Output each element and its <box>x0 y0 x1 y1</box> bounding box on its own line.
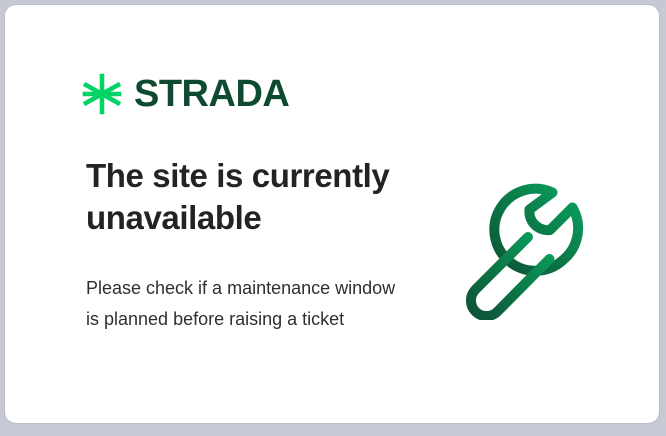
brand-wordmark: STRADA <box>134 75 289 113</box>
asterisk-star-icon <box>81 73 123 115</box>
wrench-icon <box>457 155 617 320</box>
brand-logo: STRADA <box>81 73 289 115</box>
status-description: Please check if a maintenance window is … <box>86 273 396 335</box>
status-card: STRADA The site is currently unavailable… <box>4 4 660 424</box>
page-title: The site is currently unavailable <box>86 155 426 239</box>
